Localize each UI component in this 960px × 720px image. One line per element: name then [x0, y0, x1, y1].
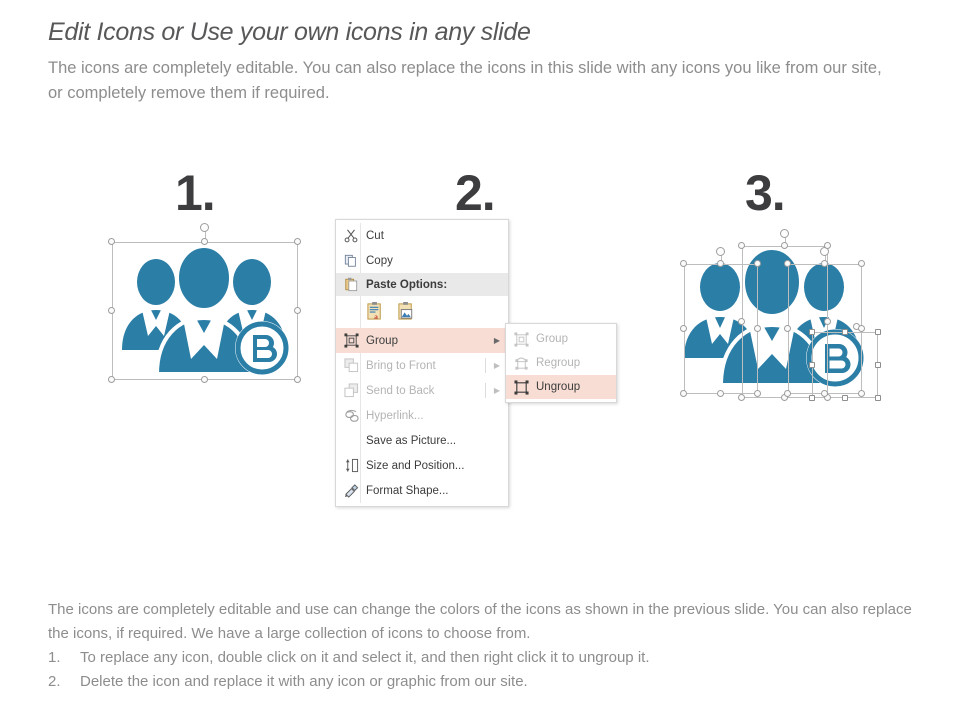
list-item-number: 2.: [48, 670, 70, 694]
footer-paragraph: The icons are completely editable and us…: [48, 598, 936, 646]
sub-handle-badge-n[interactable]: [842, 329, 848, 335]
format-shape-icon: [342, 482, 360, 500]
sub-handle-left-e[interactable]: [754, 325, 761, 332]
selection-handle-sw[interactable]: [108, 376, 115, 383]
menu-item-send-to-back-label: Send to Back: [366, 385, 488, 397]
menu-item-copy-label: Copy: [366, 255, 500, 267]
menu-split-divider: [485, 383, 486, 398]
menu-item-send-to-back: Send to Back ▶: [336, 378, 508, 403]
sub-handle-right-w[interactable]: [784, 325, 791, 332]
selection-handle-e[interactable]: [294, 307, 301, 314]
step-number-2: 2.: [455, 168, 495, 218]
sub-handle-left-n[interactable]: [717, 260, 724, 267]
menu-item-paste-options: Paste Options:: [336, 273, 508, 296]
sub-handle-center-nw[interactable]: [738, 242, 745, 249]
sub-handle-right-se[interactable]: [858, 390, 865, 397]
chevron-right-icon: ▶: [494, 386, 500, 395]
svg-text:a: a: [374, 312, 378, 321]
scissors-icon: [342, 227, 360, 245]
submenu-item-ungroup-label: Ungroup: [536, 381, 608, 393]
menu-item-size-and-position[interactable]: Size and Position...: [336, 453, 508, 478]
sub-handle-badge-ne[interactable]: [875, 329, 881, 335]
list-item: 2. Delete the icon and replace it with a…: [48, 670, 938, 694]
people-group-icon: [112, 240, 297, 380]
people-group-icon-3: [672, 240, 872, 398]
rotate-handle-left-person[interactable]: [716, 247, 725, 256]
size-position-icon: [342, 457, 360, 475]
sub-handle-center-w[interactable]: [738, 318, 745, 325]
menu-item-cut[interactable]: Cut: [336, 223, 508, 248]
submenu-item-group: Group: [506, 327, 616, 351]
selection-handle-s[interactable]: [201, 376, 208, 383]
paste-keep-text-icon[interactable]: a: [366, 301, 385, 324]
menu-item-group[interactable]: Group ▶: [336, 328, 508, 353]
submenu-item-regroup-label: Regroup: [536, 357, 608, 369]
menu-item-format-shape-label: Format Shape...: [366, 485, 500, 497]
sub-handle-right-n[interactable]: [821, 260, 828, 267]
menu-item-copy[interactable]: Copy: [336, 248, 508, 273]
sub-handle-badge-nw[interactable]: [809, 329, 815, 335]
selection-handle-nw[interactable]: [108, 238, 115, 245]
sub-handle-right-s[interactable]: [821, 390, 828, 397]
copy-icon: [342, 252, 360, 270]
menu-item-bring-to-front-label: Bring to Front: [366, 360, 488, 372]
regroup-icon: [512, 354, 530, 372]
send-to-back-icon: [342, 382, 360, 400]
menu-item-format-shape[interactable]: Format Shape...: [336, 478, 508, 503]
sub-handle-badge-w[interactable]: [809, 362, 815, 368]
hyperlink-icon: [342, 407, 360, 425]
paste-icon: [342, 276, 360, 294]
context-menu[interactable]: Cut Copy Paste Options:: [335, 219, 509, 507]
paste-options-row[interactable]: a: [336, 296, 508, 328]
b-badge-icon: [235, 321, 289, 375]
selection-handle-se[interactable]: [294, 376, 301, 383]
step-number-3: 3.: [745, 168, 785, 218]
selection-handle-n[interactable]: [201, 238, 208, 245]
sub-handle-right-sw[interactable]: [784, 390, 791, 397]
sub-handle-right-e[interactable]: [858, 325, 865, 332]
list-item-number: 1.: [48, 646, 70, 670]
sub-handle-center-sw[interactable]: [738, 394, 745, 401]
sub-handle-right-nw[interactable]: [784, 260, 791, 267]
sub-handle-left-nw[interactable]: [680, 260, 687, 267]
list-item: 1. To replace any icon, double click on …: [48, 646, 938, 670]
group-icon: [342, 332, 360, 350]
step-number-1: 1.: [175, 168, 215, 218]
sub-handle-left-ne[interactable]: [754, 260, 761, 267]
footer-instruction-list: 1. To replace any icon, double click on …: [48, 646, 938, 694]
sub-handle-center-e[interactable]: [824, 318, 831, 325]
sub-handle-left-s[interactable]: [717, 390, 724, 397]
sub-handle-left-w[interactable]: [680, 325, 687, 332]
people-icon-ungrouped[interactable]: [672, 240, 872, 398]
menu-item-paste-options-label: Paste Options:: [366, 279, 500, 291]
submenu-item-ungroup[interactable]: Ungroup: [506, 375, 616, 399]
menu-item-group-label: Group: [366, 335, 488, 347]
rotate-handle-1[interactable]: [200, 223, 209, 232]
menu-item-hyperlink-label: Hyperlink...: [366, 410, 500, 422]
sub-handle-center-n[interactable]: [781, 242, 788, 249]
page-title: Edit Icons or Use your own icons in any …: [48, 18, 928, 47]
header-block: Edit Icons or Use your own icons in any …: [48, 18, 928, 107]
menu-split-divider: [485, 358, 486, 373]
footer-block: The icons are completely editable and us…: [48, 598, 938, 694]
sub-handle-badge-s[interactable]: [842, 395, 848, 401]
ungroup-icon: [512, 378, 530, 396]
chevron-right-icon: ▶: [494, 336, 500, 345]
chevron-right-icon: ▶: [494, 361, 500, 370]
group-icon: [512, 330, 530, 348]
sub-handle-badge-se[interactable]: [875, 395, 881, 401]
page-subtitle: The icons are completely editable. You c…: [48, 56, 888, 107]
submenu-item-group-label: Group: [536, 333, 608, 345]
sub-handle-badge-sw[interactable]: [809, 395, 815, 401]
menu-item-save-as-picture[interactable]: Save as Picture...: [336, 428, 508, 453]
sub-handle-badge-e[interactable]: [875, 362, 881, 368]
rotate-handle-center-person[interactable]: [780, 229, 789, 238]
submenu-item-regroup: Regroup: [506, 351, 616, 375]
sub-handle-right-ne[interactable]: [858, 260, 865, 267]
b-badge-icon: [806, 329, 864, 387]
selection-handle-ne[interactable]: [294, 238, 301, 245]
list-item-text: Delete the icon and replace it with any …: [80, 670, 528, 694]
group-submenu[interactable]: Group Regroup: [505, 323, 617, 403]
list-item-text: To replace any icon, double click on it …: [80, 646, 650, 670]
menu-item-bring-to-front: Bring to Front ▶: [336, 353, 508, 378]
sub-handle-left-sw[interactable]: [680, 390, 687, 397]
sub-handle-center-ne[interactable]: [824, 242, 831, 249]
bring-to-front-icon: [342, 357, 360, 375]
menu-item-save-as-picture-label: Save as Picture...: [366, 435, 500, 447]
menu-item-cut-label: Cut: [366, 230, 500, 242]
people-icon-grouped[interactable]: [112, 240, 297, 380]
paste-picture-icon[interactable]: [397, 301, 416, 324]
menu-item-hyperlink: Hyperlink...: [336, 403, 508, 428]
sub-handle-left-se[interactable]: [754, 390, 761, 397]
selection-handle-w[interactable]: [108, 307, 115, 314]
menu-item-size-and-position-label: Size and Position...: [366, 460, 500, 472]
